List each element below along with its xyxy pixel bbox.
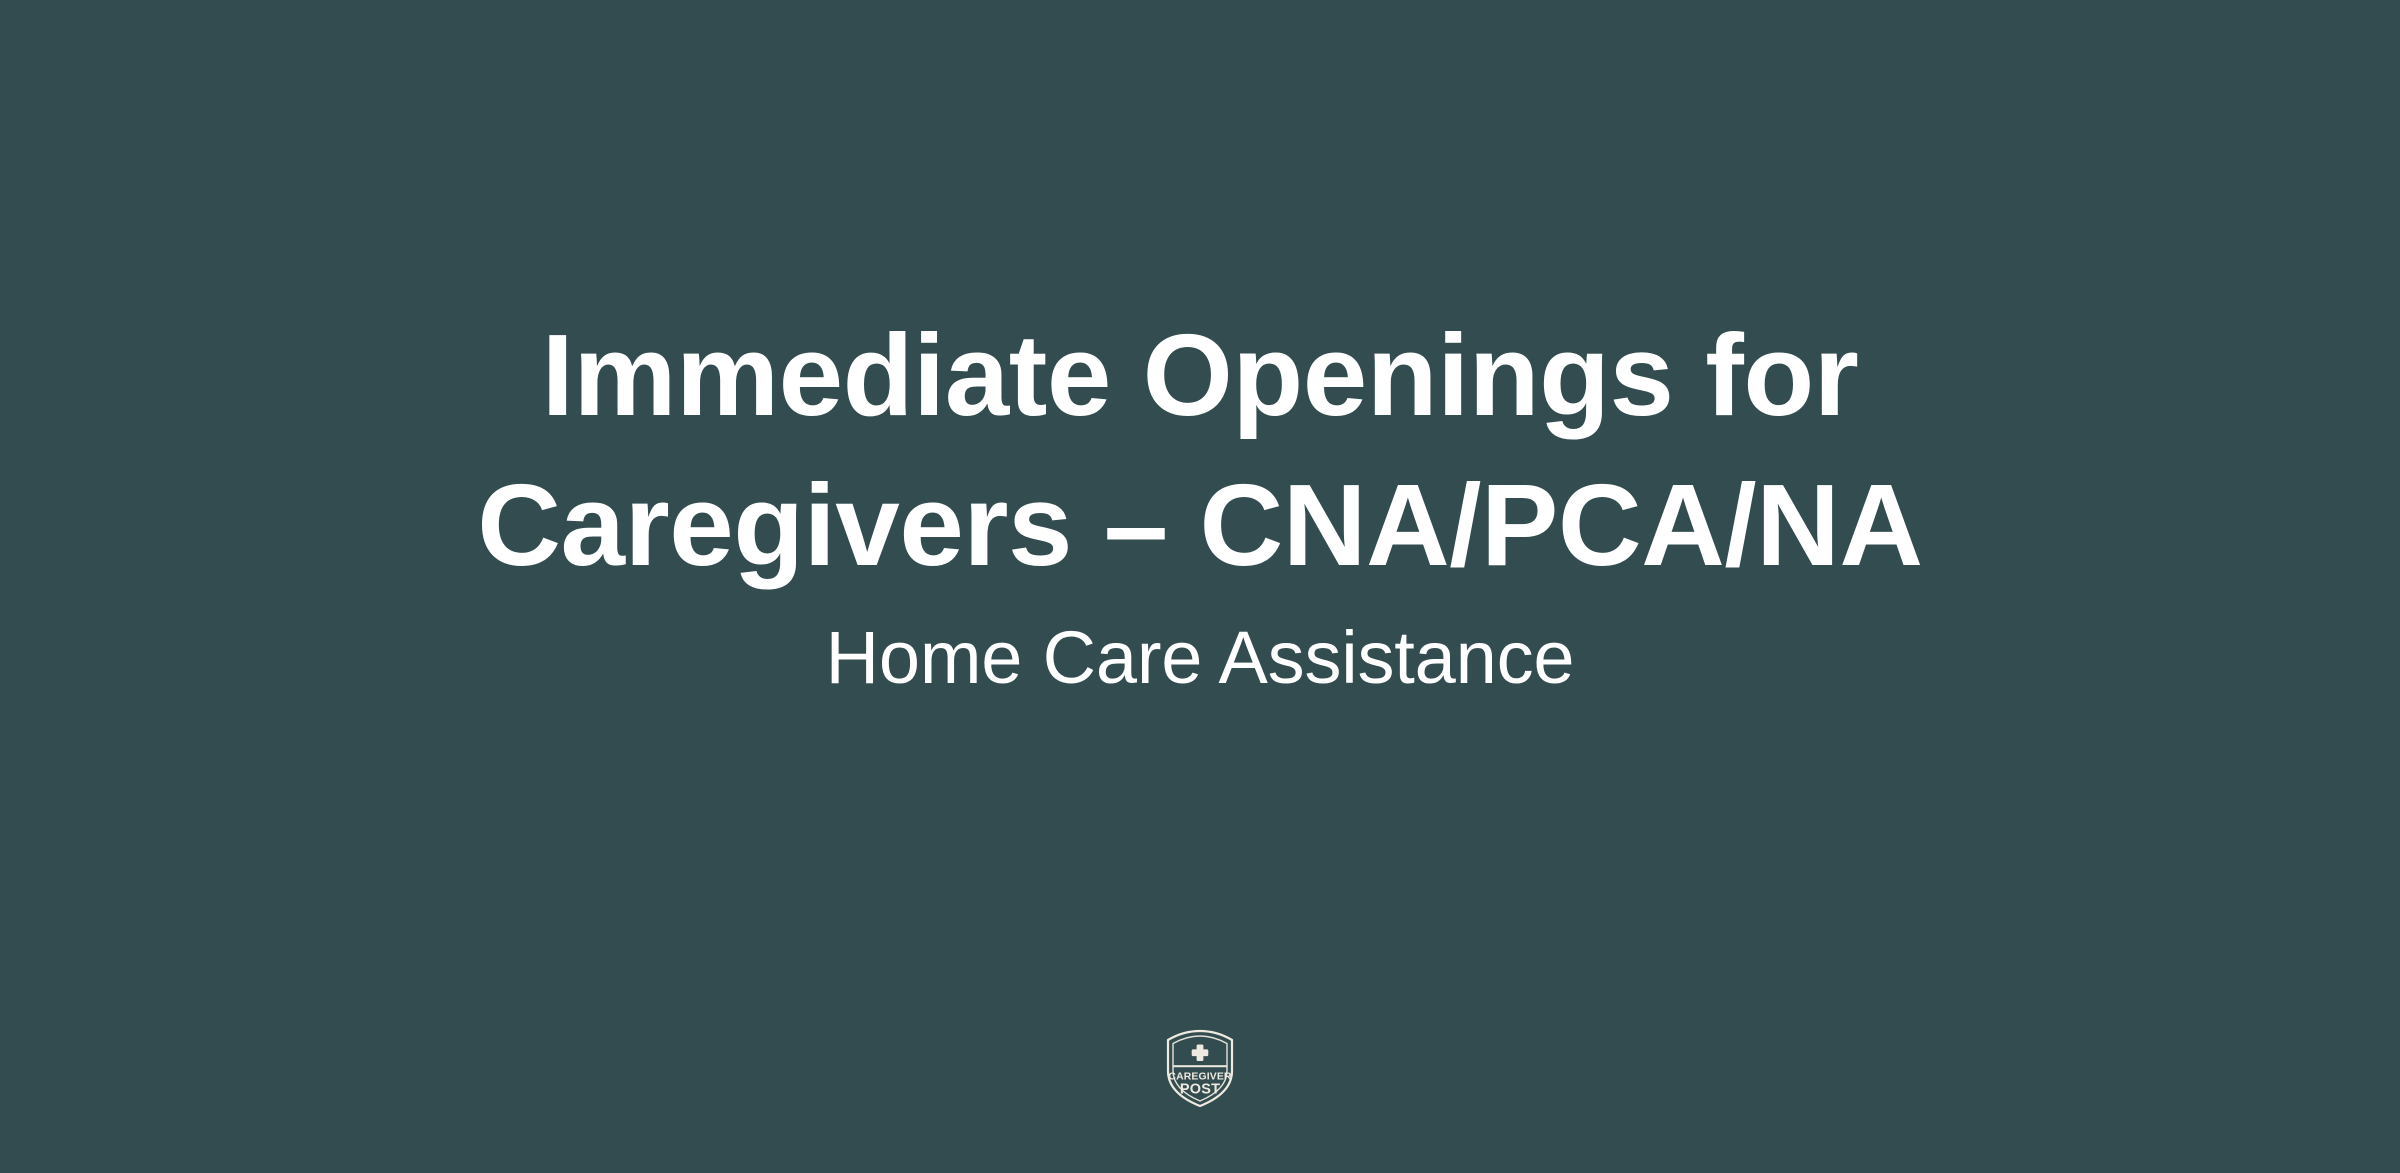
shield-divider — [1174, 1065, 1227, 1067]
shield-text-post: POST — [1180, 1082, 1220, 1098]
subtitle: Home Care Assistance — [0, 612, 2400, 704]
headline-block: Immediate Openings for Caregivers – CNA/… — [0, 300, 2400, 600]
headline-line-2: Caregivers – CNA/PCA/NA — [0, 450, 2400, 600]
headline-line-1: Immediate Openings for — [0, 300, 2400, 450]
medical-cross-icon — [1192, 1045, 1209, 1062]
caregiver-post-shield-logo: CAREGIVER POST — [1162, 1027, 1238, 1109]
job-posting-slide: Immediate Openings for Caregivers – CNA/… — [0, 0, 2400, 1173]
